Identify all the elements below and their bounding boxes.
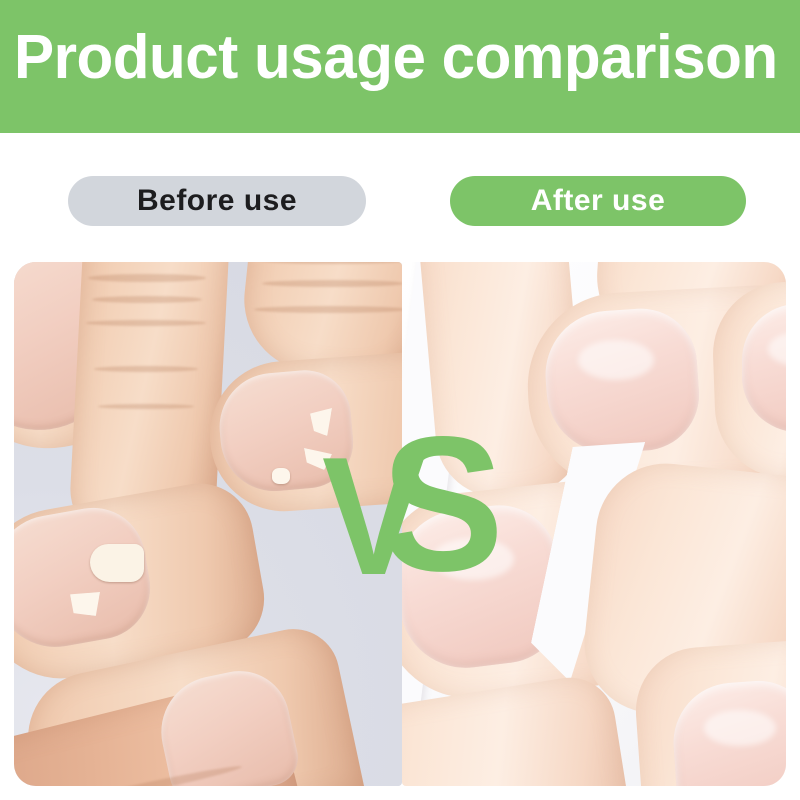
- before-wrinkle-5: [98, 404, 194, 409]
- header-banner: Product usage comparison: [0, 0, 800, 133]
- label-before-use-text: Before use: [137, 184, 297, 218]
- before-wrinkle-3: [86, 320, 206, 326]
- comparison-panels: [0, 262, 800, 786]
- before-wrinkle-1: [88, 274, 206, 282]
- before-photo-image: [14, 262, 402, 786]
- after-photo-image: [402, 262, 786, 786]
- before-photo-panel: [14, 262, 402, 786]
- before-peel-flake-3: [272, 468, 290, 484]
- before-peel-flake-4: [70, 592, 100, 616]
- after-healthy-nail-1: [541, 305, 703, 457]
- after-nail-sheen-4: [704, 710, 776, 746]
- after-nail-sheen-3: [432, 538, 514, 580]
- label-before-use: Before use: [68, 176, 366, 226]
- before-wrinkle-4: [94, 366, 198, 372]
- after-nail-sheen-1: [578, 340, 654, 380]
- before-wrinkle-2: [92, 296, 202, 303]
- before-wrinkle-7: [262, 280, 402, 287]
- before-wrinkle-8: [254, 306, 402, 313]
- label-after-use: After use: [450, 176, 746, 226]
- after-photo-panel: [402, 262, 786, 786]
- label-after-use-text: After use: [531, 184, 666, 218]
- page-title: Product usage comparison: [14, 22, 778, 94]
- before-white-patch: [90, 544, 144, 582]
